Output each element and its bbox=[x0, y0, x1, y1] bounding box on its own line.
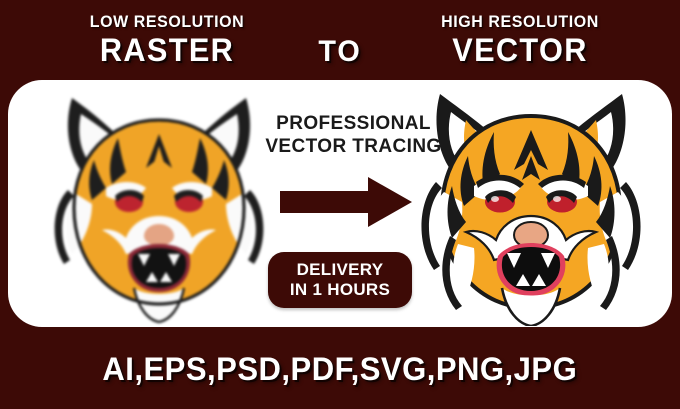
headline-row: LOW RESOLUTION RASTER TO HIGH RESOLUTION… bbox=[0, 0, 680, 80]
headline-left-small: LOW RESOLUTION bbox=[50, 12, 285, 32]
file-formats-footer: AI,EPS,PSD,PDF,SVG,PNG,JPG bbox=[0, 334, 680, 404]
headline-right-big: VECTOR bbox=[400, 33, 640, 67]
file-formats-label: AI,EPS,PSD,PDF,SVG,PNG,JPG bbox=[103, 351, 578, 388]
delivery-badge-line2: IN 1 HOURS bbox=[290, 280, 390, 300]
headline-connector-label: TO bbox=[292, 35, 388, 69]
poster-canvas: LOW RESOLUTION RASTER TO HIGH RESOLUTION… bbox=[0, 0, 680, 409]
headline-connector: TO bbox=[290, 34, 390, 69]
tiger-raster-image bbox=[34, 80, 284, 326]
headline-right: HIGH RESOLUTION VECTOR bbox=[395, 12, 645, 67]
delivery-badge: DELIVERY IN 1 HOURS bbox=[268, 252, 412, 308]
right-arrow-icon bbox=[280, 177, 412, 227]
headline-right-small: HIGH RESOLUTION bbox=[403, 12, 638, 32]
headline-left: LOW RESOLUTION RASTER bbox=[42, 12, 292, 67]
delivery-badge-text: DELIVERY IN 1 HOURS bbox=[290, 260, 390, 300]
delivery-badge-line1: DELIVERY bbox=[290, 260, 390, 280]
showcase-card: PROFESSIONAL VECTOR TRACING DELIVERY IN … bbox=[8, 80, 672, 327]
headline-left-big: RASTER bbox=[47, 33, 287, 67]
tiger-vector-image bbox=[406, 80, 656, 326]
